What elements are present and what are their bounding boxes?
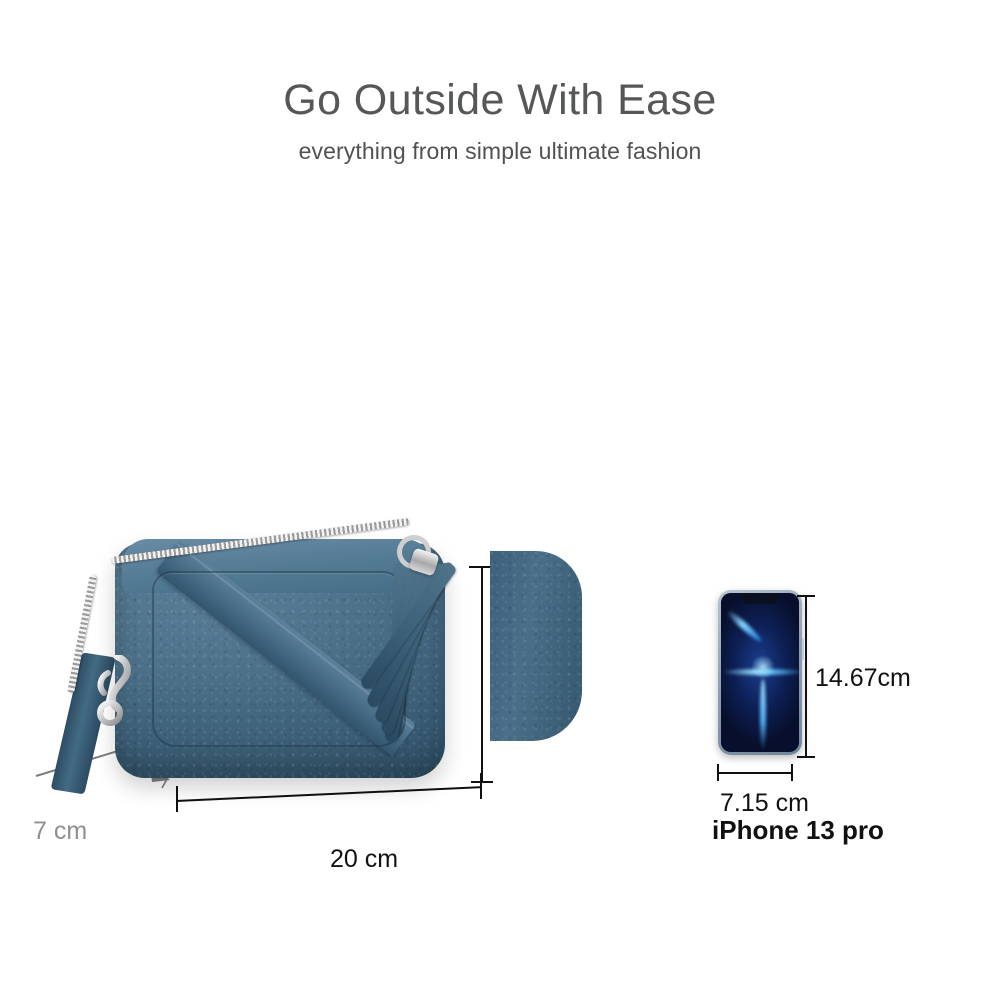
wallpaper-vertical-beam: [760, 679, 766, 751]
phone-height-tick-bottom: [797, 756, 815, 758]
phone-width-dimension-line: [717, 772, 793, 774]
phone-notch: [741, 593, 779, 604]
bag-height-tick-bottom: [471, 781, 493, 783]
phone-height-label: 14.67cm: [815, 664, 911, 693]
iphone-device: [718, 590, 802, 755]
bag-width-label: 20 cm: [330, 845, 398, 874]
bag-depth-label: 7 cm: [33, 817, 87, 846]
bag-illustration: [60, 505, 580, 825]
phone-side-button: [802, 638, 804, 660]
phone-width-tick-right: [791, 764, 793, 781]
bag-width-tick-right: [480, 773, 482, 799]
wallpaper-glow: [751, 655, 775, 679]
phone-width-tick-left: [717, 764, 719, 781]
page-subtitle: everything from simple ultimate fashion: [0, 138, 1000, 165]
phone-height-tick-top: [797, 595, 815, 597]
infographic-canvas: Go Outside With Ease everything from sim…: [0, 0, 1000, 1000]
phone-width-label: 7.15 cm: [720, 789, 809, 818]
phone-model-label: iPhone 13 pro: [712, 815, 884, 846]
phone-screen: [721, 593, 799, 752]
phone-height-dimension-line: [805, 595, 807, 757]
header-block: Go Outside With Ease everything from sim…: [0, 78, 1000, 165]
bag-front-panel-seam: [152, 571, 406, 747]
bag-tassel: [392, 565, 562, 775]
page-title: Go Outside With Ease: [0, 78, 1000, 124]
lobster-clasp-icon: [92, 655, 138, 727]
